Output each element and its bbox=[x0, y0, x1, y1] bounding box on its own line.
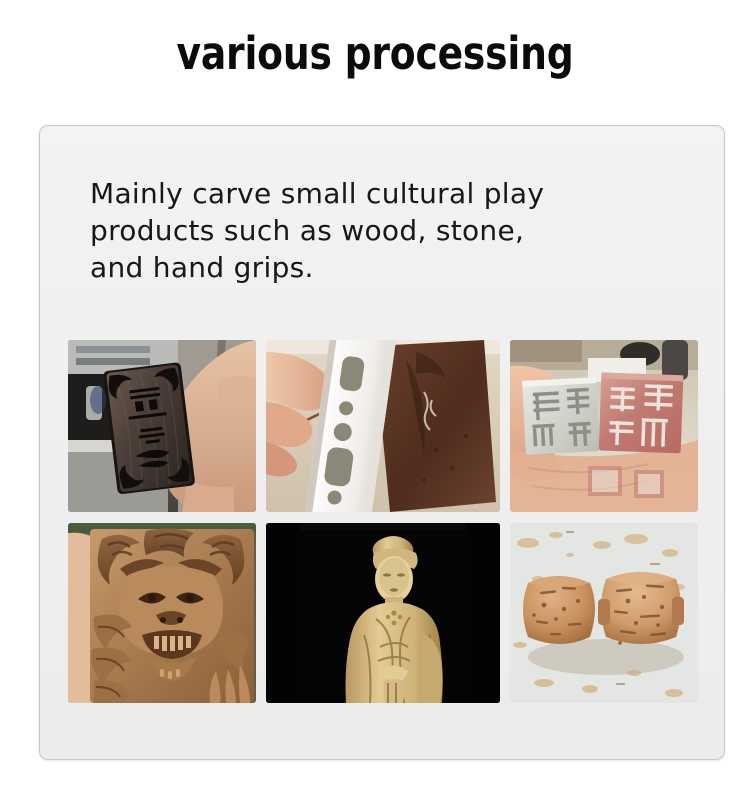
carved-stone-seals-image bbox=[510, 340, 698, 512]
carved-guanyin-statue-image bbox=[266, 523, 500, 703]
gallery-item-carved-stone-seals[interactable] bbox=[510, 340, 698, 512]
gallery-item-carved-dragon-relief[interactable] bbox=[68, 523, 256, 703]
gallery-item-wooden-hand-grip-beads[interactable] bbox=[510, 523, 698, 703]
card-description: Mainly carve small cultural play product… bbox=[90, 175, 690, 286]
carved-dragon-relief-image bbox=[68, 523, 256, 703]
content-card: Mainly carve small cultural play product… bbox=[39, 125, 725, 760]
carved-wood-plaque-image bbox=[68, 340, 256, 512]
machined-white-panel-image bbox=[266, 340, 500, 512]
page-title: various processing bbox=[26, 28, 724, 80]
gallery-item-machined-white-panel[interactable] bbox=[266, 340, 500, 512]
gallery-item-carved-wood-plaque[interactable] bbox=[68, 340, 256, 512]
image-gallery bbox=[68, 340, 698, 703]
gallery-item-carved-guanyin-statue[interactable] bbox=[266, 523, 500, 703]
wooden-hand-grip-beads-image bbox=[510, 523, 698, 703]
